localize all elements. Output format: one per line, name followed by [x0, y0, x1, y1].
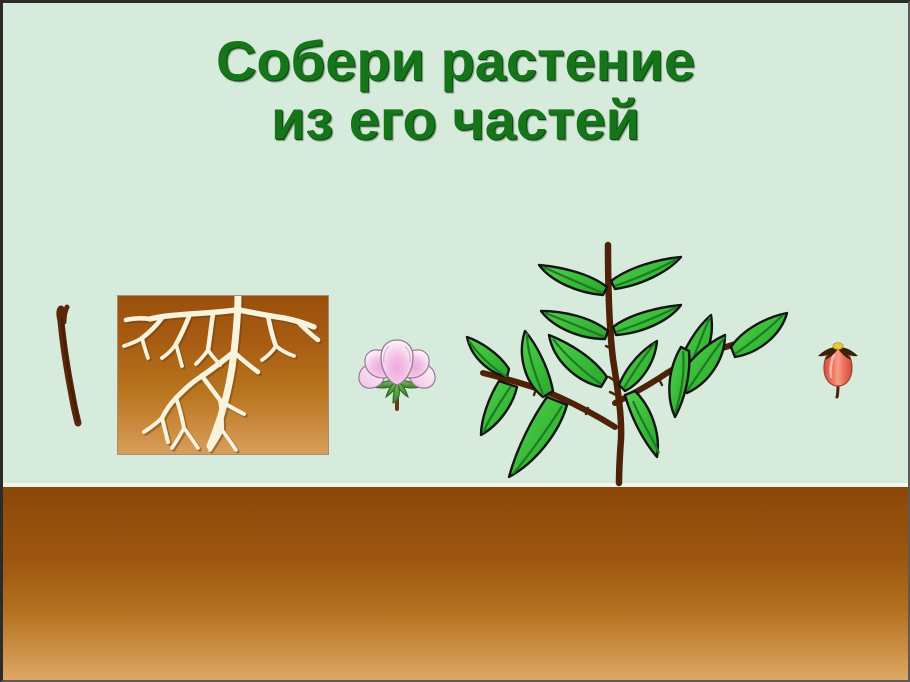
rose-hip-fruit-icon — [815, 335, 861, 401]
plant-stem-icon — [47, 303, 97, 433]
plant-roots-icon — [118, 296, 328, 454]
plant-part-leaves[interactable] — [463, 231, 795, 485]
soil-band — [3, 487, 908, 682]
leafy-branch-icon — [463, 231, 795, 485]
plant-part-flower[interactable] — [355, 330, 439, 416]
flower-icon — [355, 330, 439, 416]
plant-part-roots[interactable] — [118, 296, 328, 454]
lesson-slide: Собери растение из его частей — [0, 0, 910, 682]
plant-part-stem[interactable] — [47, 303, 97, 433]
plant-part-fruit[interactable] — [815, 335, 861, 401]
